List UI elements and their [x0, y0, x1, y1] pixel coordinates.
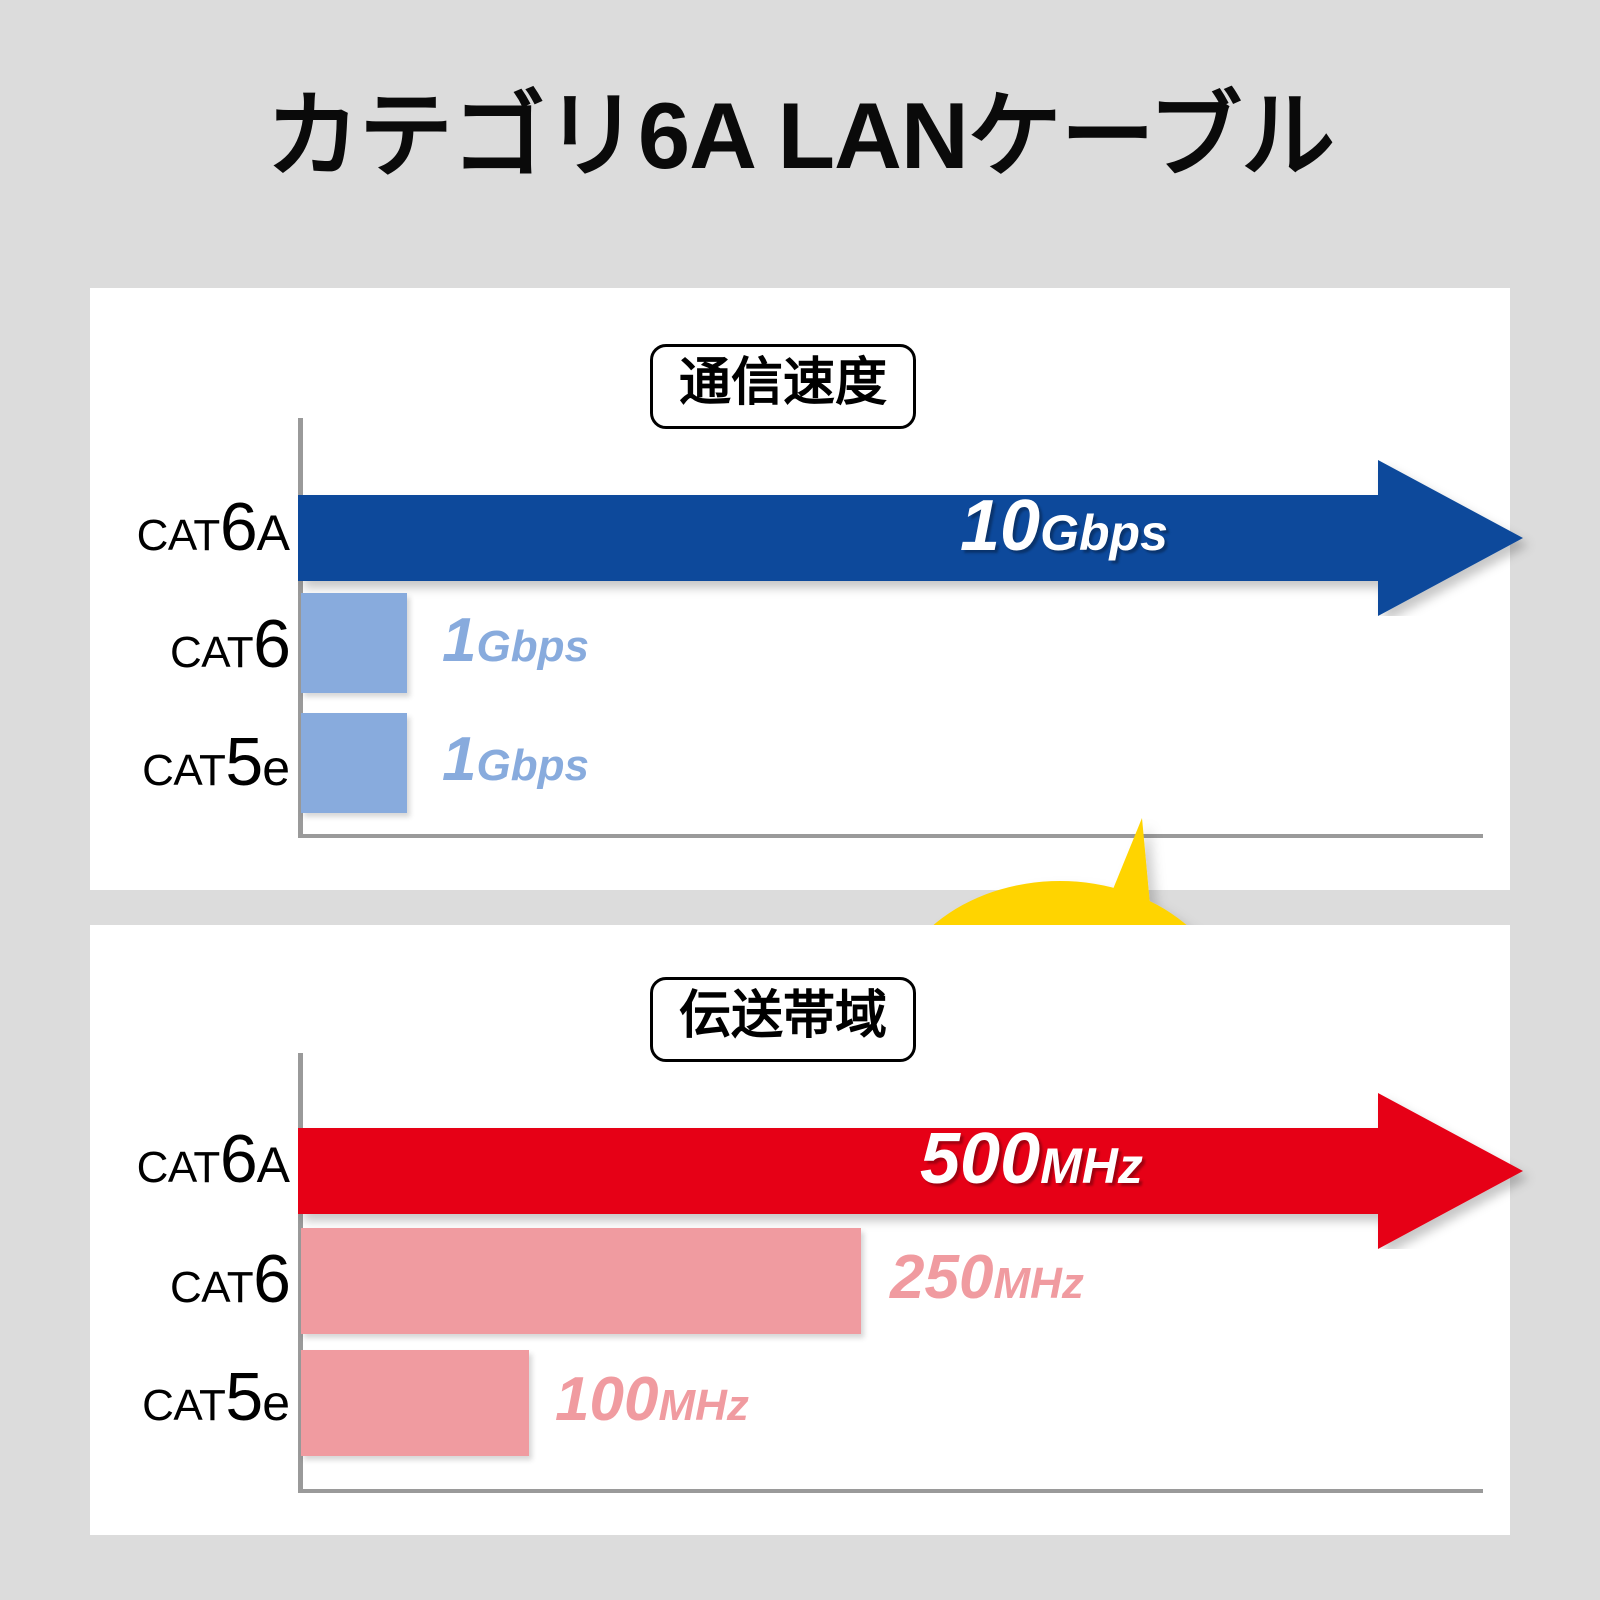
- value-unit: MHz: [1040, 1138, 1143, 1194]
- cat-number: 5: [225, 1359, 262, 1435]
- cat-number: 6: [253, 606, 290, 682]
- bar-cat6-speed: [301, 593, 407, 693]
- value-label-cat6a-bandwidth: 500MHz: [920, 1123, 1143, 1195]
- value-number: 500: [920, 1119, 1040, 1199]
- value-number: 1: [442, 606, 476, 675]
- cat-suffix: A: [257, 505, 290, 561]
- value-unit: Gbps: [476, 622, 588, 671]
- x-axis-bandwidth: [298, 1489, 1483, 1493]
- cat-label-6a-bandwidth: CAT6A: [100, 1125, 290, 1193]
- value-label-cat5e-bandwidth: 100MHz: [555, 1369, 749, 1431]
- page-title: カテゴリ6A LANケーブル: [0, 84, 1600, 187]
- panel-communication-speed: 通信速度 CAT6A CAT6 CAT5e 10Gbps 1Gbps 1Gbps: [90, 288, 1510, 890]
- cat-number: 6: [220, 1121, 257, 1197]
- section-chip-bandwidth: 伝送帯域: [650, 977, 916, 1062]
- bar-arrow-cat6a-speed: [298, 460, 1538, 616]
- value-label-cat6-speed: 1Gbps: [442, 610, 589, 672]
- value-unit: Gbps: [1040, 505, 1168, 561]
- cat-prefix: CAT: [137, 511, 220, 560]
- bar-arrow-cat6a-bandwidth: [298, 1093, 1538, 1249]
- cat-label-5e-bandwidth: CAT5e: [100, 1363, 290, 1431]
- value-number: 250: [890, 1243, 993, 1312]
- bar-cat5e-bandwidth: [301, 1350, 529, 1456]
- value-label-cat6-bandwidth: 250MHz: [890, 1247, 1084, 1309]
- cat-suffix: e: [262, 740, 290, 796]
- value-label-cat6a-speed: 10Gbps: [960, 490, 1168, 562]
- value-unit: Gbps: [476, 741, 588, 790]
- cat-number: 5: [225, 724, 262, 800]
- cat-number: 6: [220, 489, 257, 565]
- value-unit: MHz: [993, 1259, 1083, 1308]
- bar-cat6-bandwidth: [301, 1228, 861, 1334]
- cat-prefix: CAT: [170, 628, 253, 677]
- cat-number: 6: [253, 1241, 290, 1317]
- cat-label-5e-speed: CAT5e: [100, 728, 290, 796]
- section-chip-speed: 通信速度: [650, 344, 916, 429]
- cat-label-6a-speed: CAT6A: [100, 493, 290, 561]
- cat-prefix: CAT: [170, 1263, 253, 1312]
- value-label-cat5e-speed: 1Gbps: [442, 729, 589, 791]
- cat-label-6-bandwidth: CAT6: [100, 1245, 290, 1313]
- cat-prefix: CAT: [142, 746, 225, 795]
- value-number: 1: [442, 725, 476, 794]
- bar-cat5e-speed: [301, 713, 407, 813]
- cat-suffix: e: [262, 1375, 290, 1431]
- cat-suffix: A: [257, 1137, 290, 1193]
- value-number: 100: [555, 1365, 658, 1434]
- panel-transmission-bandwidth: 伝送帯域 CAT6A CAT6 CAT5e 500MHz 250MHz 100M…: [90, 925, 1510, 1535]
- cat-label-6-speed: CAT6: [100, 610, 290, 678]
- value-number: 10: [960, 486, 1040, 566]
- cat-prefix: CAT: [137, 1143, 220, 1192]
- cat-prefix: CAT: [142, 1381, 225, 1430]
- value-unit: MHz: [658, 1381, 748, 1430]
